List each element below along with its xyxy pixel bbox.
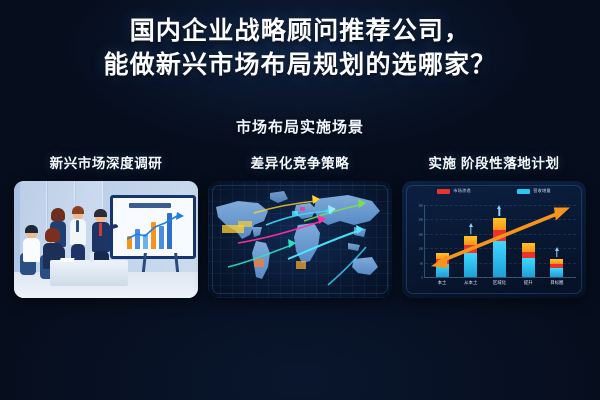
world-map-panel [208,181,392,298]
card-market-research: 新兴市场深度调研 [14,152,198,298]
presenter-hair [94,209,107,217]
seated-2-hair [45,228,60,242]
document-on-table [59,258,74,262]
whiteboard [110,195,196,259]
card-title-1: 新兴市场深度调研 [50,152,163,172]
whiteboard-trend-line [127,212,185,242]
headline-line-2: 能做新兴市场布局规划的选哪家？ [0,48,600,82]
headline-line-1: 国内企业战略顾问推荐公司， [0,14,600,48]
card-competitive-strategy: 差异化竞争策略 [208,152,392,298]
woman-hair [51,208,65,221]
infographic-poster: 国内企业战略顾问推荐公司， 能做新兴市场布局规划的选哪家？ 市场布局实施场景 新… [0,0,600,400]
map-panel-frame [212,185,388,294]
page-title: 国内企业战略顾问推荐公司， 能做新兴市场布局规划的选哪家？ [0,14,600,82]
card-row: 新兴市场深度调研 [14,152,586,298]
section-subtitle: 市场布局实施场景 [0,116,600,137]
meeting-illustration-panel [14,181,198,298]
meeting-table [50,260,128,286]
card-title-3: 实施 阶段性落地计划 [428,152,559,172]
water-bottle [90,252,94,262]
colleague-hair [72,206,84,214]
chart-panel-frame [406,185,582,294]
colleague-tie [76,220,79,232]
seated-1-hair [25,225,38,233]
card-implementation-plan: 实施 阶段性落地计划 市场渗透 营收增量 250 [402,152,586,298]
card-title-2: 差异化竞争策略 [251,152,350,172]
whiteboard-heading [129,203,171,208]
presenter-tie [99,223,102,236]
seated-1-torso [23,238,40,262]
bar-chart-panel: 市场渗透 营收增量 250 200 150 [402,181,586,298]
